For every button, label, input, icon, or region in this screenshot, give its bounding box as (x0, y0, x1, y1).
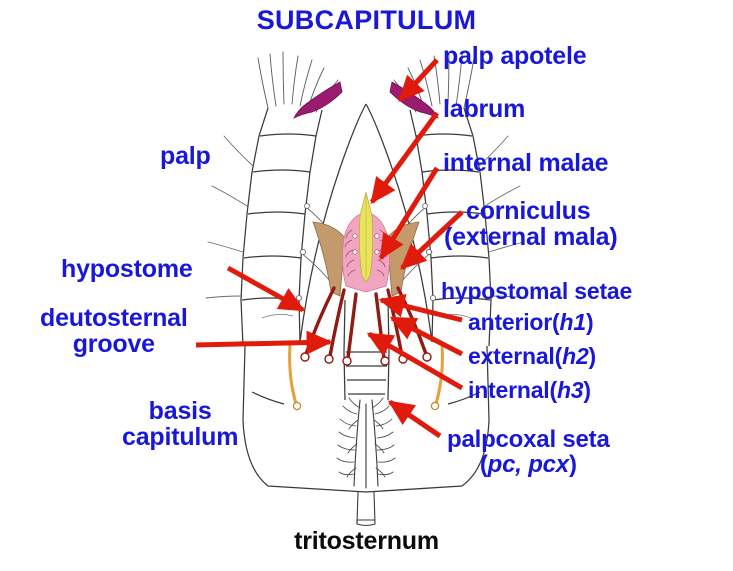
label-seta-anterior: anterior(h1) (468, 311, 593, 335)
label-corniculus: corniculus (external mala) (466, 198, 617, 250)
label-deutosternal-line1: deutosternal (40, 305, 188, 331)
label-seta-external-abbr: h2 (562, 343, 588, 369)
palp-tarsus-setae (258, 52, 474, 112)
arrow-hypostome (228, 268, 303, 310)
paren-open-pc: ( (480, 451, 488, 478)
label-basis-line2: capitulum (122, 424, 238, 450)
arrow-external-h2 (392, 318, 462, 354)
label-tritosternum: tritosternum (0, 528, 733, 554)
arrow-palp-apotele (400, 60, 437, 100)
label-basis-capitulum: basis capitulum (122, 398, 238, 450)
label-deutosternal-line2: groove (40, 331, 188, 357)
label-corniculus-line2: (external mala) (444, 224, 617, 250)
paren-open-h3: ( (549, 377, 556, 403)
arrow-deutosternal (196, 342, 330, 345)
label-seta-external: external(h2) (468, 345, 596, 369)
labrum (359, 192, 372, 282)
paren-close-pc: ) (569, 451, 577, 478)
label-palpcoxal-abbr-line: (pc, pcx) (447, 453, 610, 478)
label-deutosternal-groove: deutosternal groove (40, 305, 188, 357)
tritosternum (354, 400, 378, 526)
label-seta-anterior-name: anterior (468, 309, 552, 335)
label-palp-apotele: palp apotele (443, 43, 586, 69)
label-seta-internal-abbr: h3 (557, 377, 583, 403)
label-labrum: labrum (443, 96, 525, 122)
paren-close-h3: ) (583, 377, 590, 403)
label-corniculus-line1: corniculus (466, 198, 617, 224)
hypostomal-setae (306, 288, 426, 358)
label-palpcoxal-abbr: pc, pcx (488, 451, 569, 478)
label-seta-internal: internal(h3) (468, 379, 591, 403)
label-hypostome: hypostome (61, 256, 193, 282)
label-basis-line1: basis (122, 398, 238, 424)
label-hypostomal-setae: hypostomal setae (441, 280, 632, 304)
paren-close-h1: ) (586, 309, 593, 335)
figure-canvas: SUBCAPITULUM palp apotele labrum interna… (0, 0, 733, 571)
paren-open-h1: ( (552, 309, 559, 335)
paren-close-h2: ) (589, 343, 596, 369)
paren-open-h2: ( (555, 343, 562, 369)
figure-title: SUBCAPITULUM (0, 6, 733, 34)
label-seta-anterior-abbr: h1 (560, 309, 586, 335)
arrow-labrum (372, 113, 437, 202)
palpcoxal-seta-base-right (431, 402, 438, 409)
corniculus-left (313, 222, 345, 296)
label-seta-external-name: external (468, 343, 555, 369)
palpcoxal-setae (290, 345, 443, 404)
label-internal-malae: internal malae (443, 150, 608, 176)
label-palpcoxal-seta: palpcoxal seta (pc, pcx) (447, 428, 610, 478)
label-seta-internal-name: internal (468, 377, 549, 403)
palpcoxal-seta-base-left (293, 402, 300, 409)
label-palpcoxal-line1: palpcoxal seta (447, 428, 610, 453)
label-palp: palp (160, 143, 211, 169)
